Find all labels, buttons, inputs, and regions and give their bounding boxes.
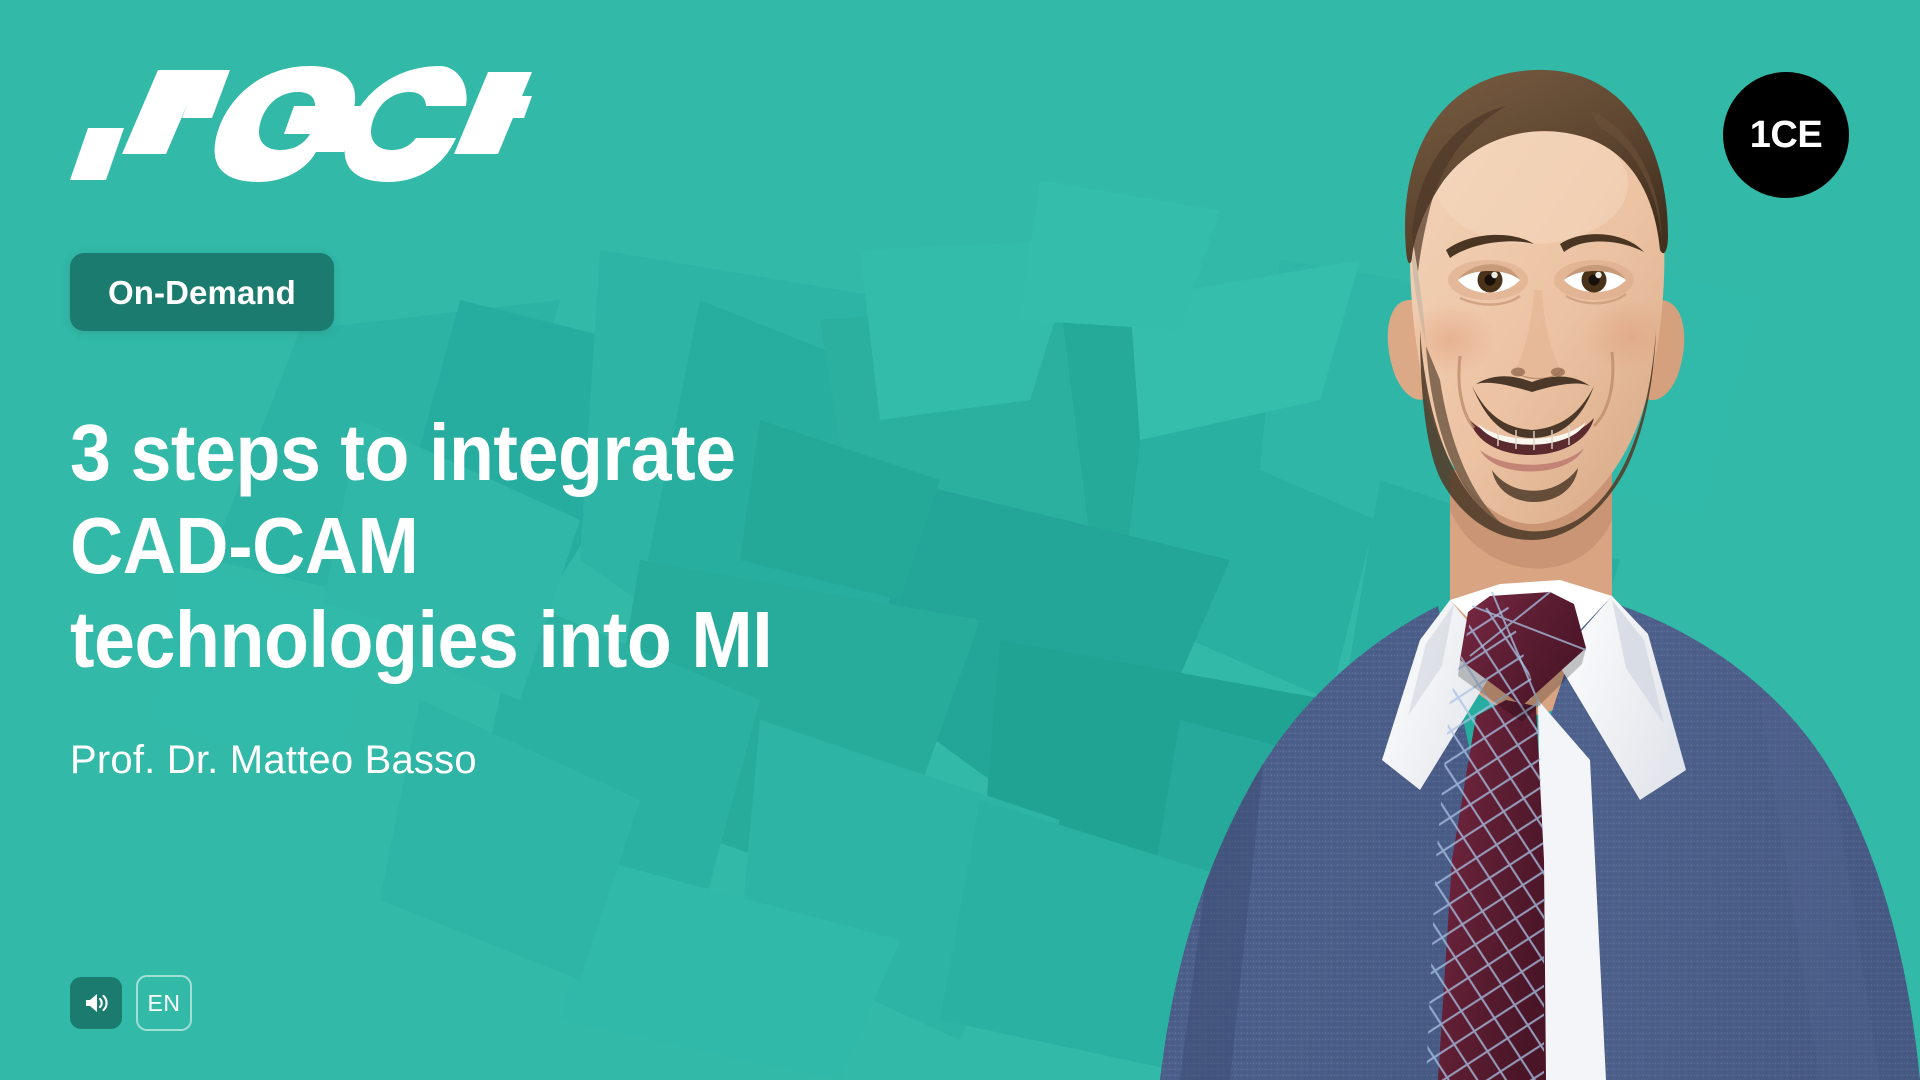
status-badge-label: On-Demand xyxy=(108,276,296,309)
speaker-volume-icon xyxy=(82,989,110,1017)
speaker-name: Prof. Dr. Matteo Basso xyxy=(70,740,477,780)
webinar-promo-card: 1CE On-Demand 3 steps to integrate CAD-C… xyxy=(0,0,1920,1080)
title-line-3: technologies into MI xyxy=(70,593,1100,687)
language-selector-button[interactable]: EN xyxy=(136,975,192,1031)
status-badge-on-demand: On-Demand xyxy=(70,253,334,331)
credit-badge: 1CE xyxy=(1723,72,1849,198)
title-line-1: 3 steps to integrate xyxy=(70,406,1100,500)
credit-badge-label: 1CE xyxy=(1750,116,1822,154)
title-line-2: CAD-CAM xyxy=(70,499,1100,593)
page-title: 3 steps to integrate CAD-CAM technologie… xyxy=(70,406,1100,687)
media-controls: EN xyxy=(70,975,192,1031)
sound-toggle-button[interactable] xyxy=(70,977,122,1029)
gc-logo xyxy=(62,62,532,182)
language-label: EN xyxy=(148,992,181,1015)
